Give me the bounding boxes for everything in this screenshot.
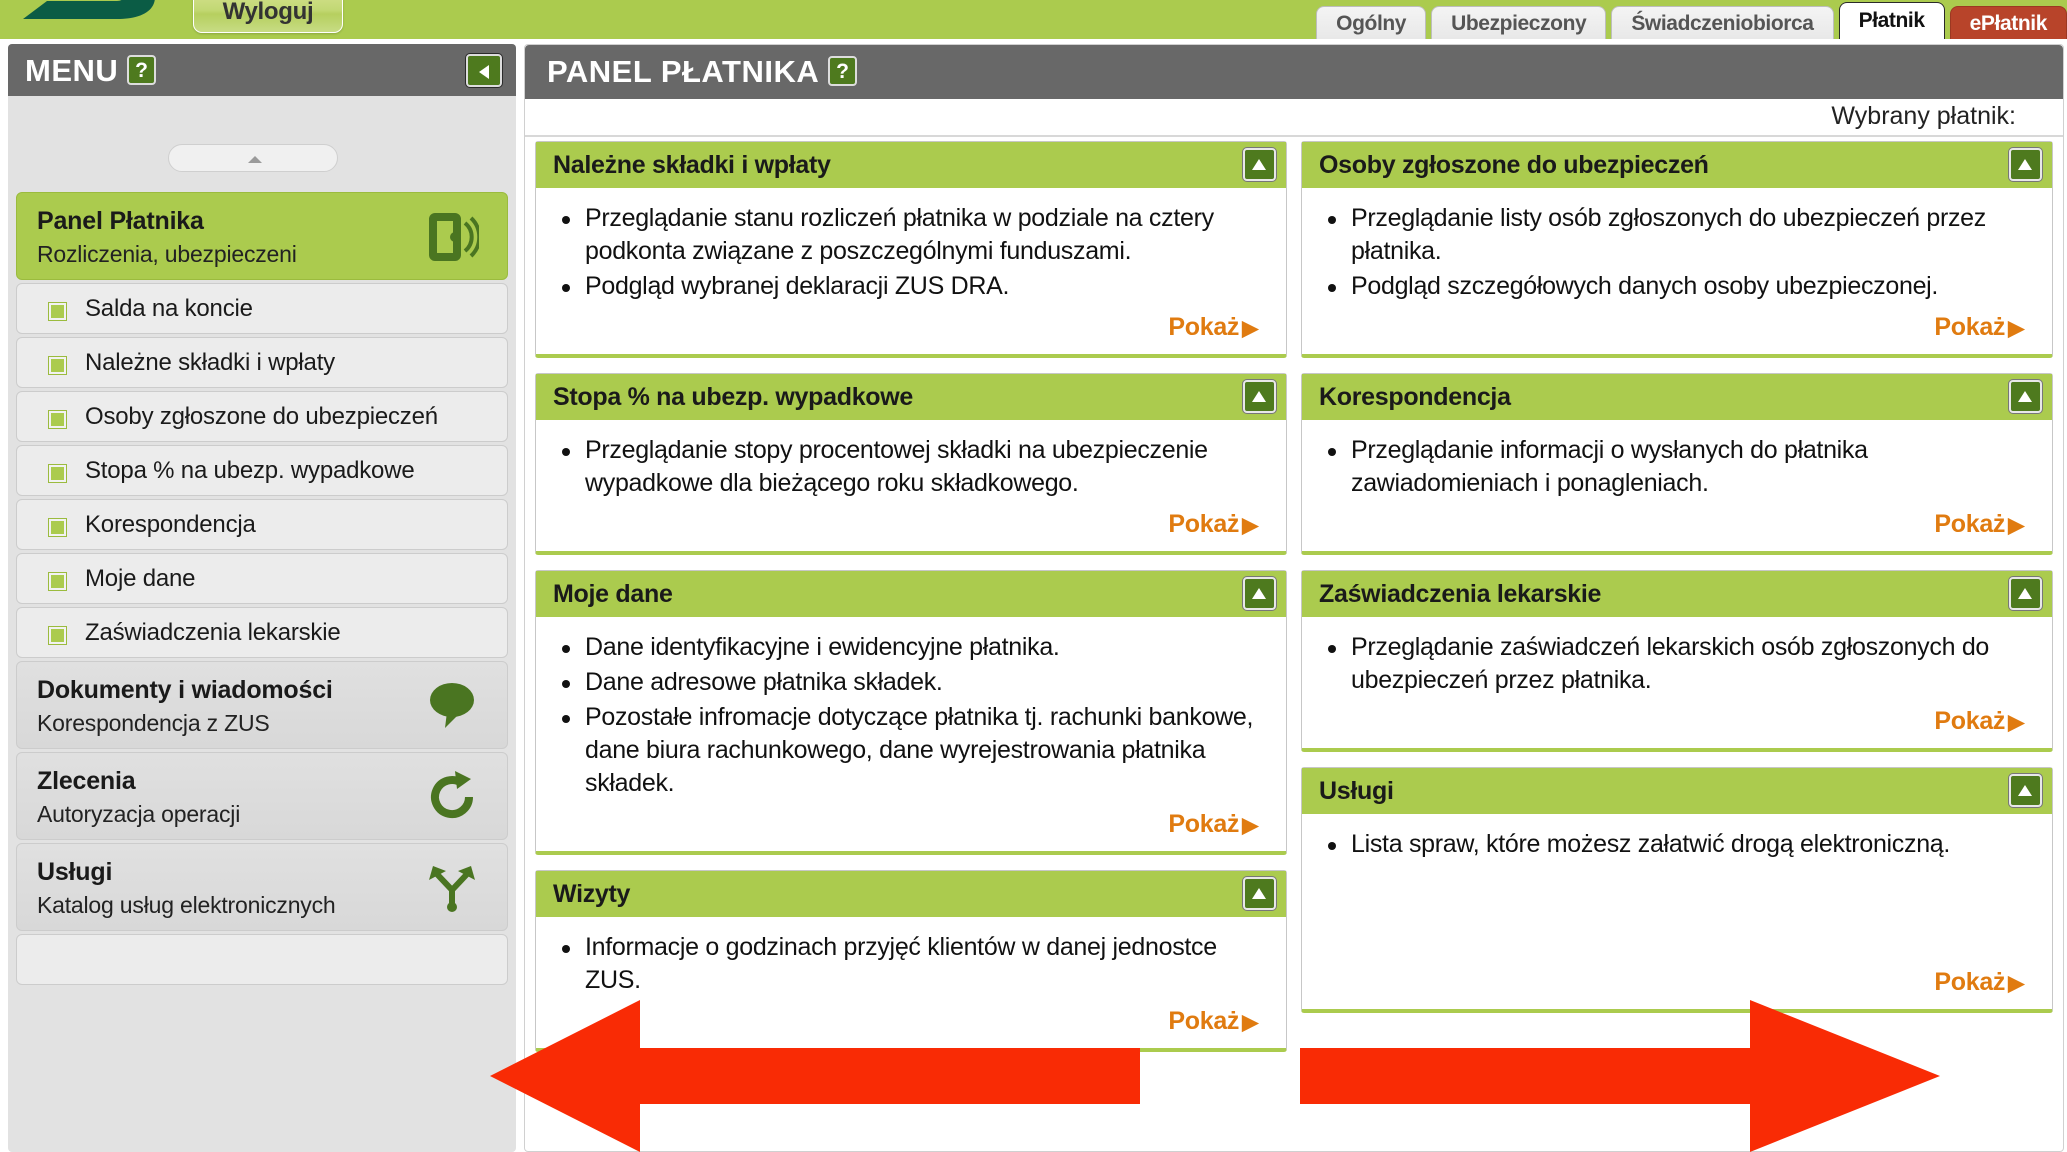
card-bullet: Przeglądanie zaświadczeń lekarskich osób… (1324, 631, 2030, 697)
card-title: Usługi (1319, 777, 1394, 806)
card-footer: Pokaż▶ (1302, 966, 2052, 1009)
sidebar-item-label: Korespondencja (85, 511, 256, 539)
card-body: Przeglądanie informacji o wysłanych do p… (1302, 420, 2052, 508)
sidebar-header: MENU? (8, 44, 516, 96)
card-zaswiadczenia-lekarskie: Zaświadczenia lekarskie Przeglądanie zaś… (1301, 570, 2053, 752)
chevron-up-icon[interactable] (2009, 380, 2042, 413)
sidebar-item-label: Moje dane (85, 565, 195, 593)
chevron-right-icon: ▶ (2008, 711, 2024, 734)
sidebar-item-subtitle: Katalog usług elektronicznych (37, 892, 336, 919)
chevron-up-icon[interactable] (1243, 380, 1276, 413)
chevron-right-icon: ▶ (2008, 317, 2024, 340)
card-bullet: Informacje o godzinach przyjęć klientów … (558, 931, 1264, 997)
sidebar-item-stopa-na-ubezp-wypadkowe[interactable]: Stopa % na ubezp. wypadkowe (16, 445, 508, 496)
top-bar: Wyloguj Ogólny Ubezpieczony Świadczeniob… (0, 0, 2067, 39)
sidebar-item-salda-na-koncie[interactable]: Salda na koncie (16, 283, 508, 334)
card-uslugi: Usługi Lista spraw, które możesz załatwi… (1301, 767, 2053, 1013)
sidebar-item-label: Stopa % na ubezp. wypadkowe (85, 457, 415, 485)
cards-container: Należne składki i wpłaty Przeglądanie st… (525, 141, 2063, 1067)
card-title: Moje dane (553, 580, 673, 609)
cards-column-right: Osoby zgłoszone do ubezpieczeń Przegląda… (1301, 141, 2053, 1067)
card-title: Korespondencja (1319, 383, 1511, 412)
sidebar-item-label: Zaświadczenia lekarskie (85, 619, 341, 647)
sidebar-item-zaswiadczenia-lekarskie[interactable]: Zaświadczenia lekarskie (16, 607, 508, 658)
card-footer: Pokaż▶ (1302, 705, 2052, 748)
show-link[interactable]: Pokaż▶ (1168, 510, 1258, 538)
tab-platnik[interactable]: Płatnik (1839, 2, 1945, 39)
show-link-label: Pokaż (1934, 510, 2005, 538)
show-link-label: Pokaż (1934, 313, 2005, 341)
card-bullet: Dane identyfikacyjne i ewidencyjne płatn… (558, 631, 1264, 664)
card-bullet: Przeglądanie stanu rozliczeń płatnika w … (558, 202, 1264, 268)
chevron-up-icon[interactable] (1243, 148, 1276, 181)
card-body: Lista spraw, które możesz załatwić drogą… (1302, 814, 2052, 966)
card-osoby-zgloszone-do-ubezpieczen: Osoby zgłoszone do ubezpieczeń Przegląda… (1301, 141, 2053, 358)
sidebar-item-label: Salda na koncie (85, 295, 253, 323)
sidebar-menu-list: Panel Płatnika Rozliczenia, ubezpieczeni… (16, 192, 508, 988)
card-bullet: Podgląd szczegółowych danych osoby ubezp… (1324, 270, 2030, 303)
tab-eplatnik[interactable]: ePłatnik (1950, 6, 2067, 39)
sidebar-title-text: MENU (25, 53, 118, 88)
card-header: Wizyty (536, 871, 1286, 917)
card-bullet: Lista spraw, które możesz załatwić drogą… (1324, 828, 2030, 861)
sidebar-item-subtitle: Korespondencja z ZUS (37, 710, 270, 737)
show-link[interactable]: Pokaż▶ (1934, 968, 2024, 996)
show-link-label: Pokaż (1934, 707, 2005, 735)
sidebar-item-label: Należne składki i wpłaty (85, 349, 335, 377)
show-link-label: Pokaż (1168, 1007, 1239, 1035)
chevron-right-icon: ▶ (2008, 514, 2024, 537)
sidebar-item-subtitle: Rozliczenia, ubezpieczeni (37, 241, 297, 268)
chevron-right-icon: ▶ (1242, 514, 1258, 537)
chevron-up-icon[interactable] (2009, 577, 2042, 610)
sidebar-item-dokumenty-i-wiadomosci[interactable]: Dokumenty i wiadomości Korespondencja z … (16, 661, 508, 749)
card-header: Usługi (1302, 768, 2052, 814)
card-body: Dane identyfikacyjne i ewidencyjne płatn… (536, 617, 1286, 808)
bullet-square-icon (49, 303, 66, 320)
card-footer: Pokaż▶ (536, 1005, 1286, 1048)
sidebar-scroll-up-button[interactable] (168, 144, 338, 172)
card-bullet: Dane adresowe płatnika składek. (558, 666, 1264, 699)
refresh-icon (425, 769, 479, 825)
bullet-square-icon (49, 411, 66, 428)
selected-payer-row: Wybrany płatnik: (525, 99, 2063, 137)
card-bullet: Przeglądanie stopy procentowej składki n… (558, 434, 1264, 500)
sidebar-panel: MENU? Panel Płatnika Rozliczenia, ubezpi… (8, 44, 516, 1152)
top-tabs: Ogólny Ubezpieczony Świadczeniobiorca Pł… (1316, 0, 2067, 39)
card-title: Zaświadczenia lekarskie (1319, 580, 1601, 609)
show-link[interactable]: Pokaż▶ (1934, 313, 2024, 341)
chevron-right-icon: ▶ (1242, 1011, 1258, 1034)
sidebar-item-osoby-zgloszone-do-ubezpieczen[interactable]: Osoby zgłoszone do ubezpieczeń (16, 391, 508, 442)
card-header: Stopa % na ubezp. wypadkowe (536, 374, 1286, 420)
sidebar-item-title: Panel Płatnika (37, 207, 204, 236)
tab-swiadczeniobiorca[interactable]: Świadczeniobiorca (1611, 6, 1833, 39)
tab-ubezpieczony[interactable]: Ubezpieczony (1431, 6, 1606, 39)
show-link-label: Pokaż (1168, 313, 1239, 341)
zus-logo (13, 0, 173, 33)
main-panel: PANEL PŁATNIKA? Wybrany płatnik: Należne… (524, 44, 2064, 1152)
show-link-label: Pokaż (1168, 510, 1239, 538)
page-title-text: PANEL PŁATNIKA (547, 54, 819, 89)
bullet-square-icon (49, 519, 66, 536)
card-footer: Pokaż▶ (536, 311, 1286, 354)
sidebar-item-title: Usługi (37, 858, 112, 887)
payer-panel-icon (425, 209, 479, 265)
sidebar-item-subtitle: Autoryzacja operacji (37, 801, 240, 828)
card-body: Przeglądanie zaświadczeń lekarskich osób… (1302, 617, 2052, 705)
main-header: PANEL PŁATNIKA? (525, 45, 2063, 99)
page-title: PANEL PŁATNIKA? (547, 54, 857, 90)
chevron-right-icon: ▶ (1242, 317, 1258, 340)
chevron-right-icon: ▶ (2008, 972, 2024, 995)
show-link[interactable]: Pokaż▶ (1934, 707, 2024, 735)
card-stopa-na-ubezp-wypadkowe: Stopa % na ubezp. wypadkowe Przeglądanie… (535, 373, 1287, 555)
sidebar-item-title: Zlecenia (37, 767, 135, 796)
card-header: Należne składki i wpłaty (536, 142, 1286, 188)
show-link[interactable]: Pokaż▶ (1168, 313, 1258, 341)
chevron-up-icon[interactable] (1243, 877, 1276, 910)
card-header: Osoby zgłoszone do ubezpieczeń (1302, 142, 2052, 188)
card-body: Przeglądanie stopy procentowej składki n… (536, 420, 1286, 508)
tab-ogolny[interactable]: Ogólny (1316, 6, 1426, 39)
card-bullet: Przeglądanie listy osób zgłoszonych do u… (1324, 202, 2030, 268)
logout-button[interactable]: Wyloguj (193, 0, 343, 33)
help-icon[interactable]: ? (828, 56, 857, 86)
sidebar-item-korespondencja[interactable]: Korespondencja (16, 499, 508, 550)
card-title: Osoby zgłoszone do ubezpieczeń (1319, 151, 1709, 180)
sidebar-item-title: Dokumenty i wiadomości (37, 676, 333, 705)
chevron-up-icon[interactable] (2009, 148, 2042, 181)
sidebar-item-nalezne-skladki-i-wplaty[interactable]: Należne składki i wpłaty (16, 337, 508, 388)
sidebar-title: MENU? (25, 53, 156, 89)
selected-payer-label: Wybrany płatnik: (1831, 102, 2016, 131)
services-fork-icon (425, 860, 479, 916)
sidebar-item-uslugi[interactable]: Usługi Katalog usług elektronicznych (16, 843, 508, 931)
bullet-square-icon (49, 357, 66, 374)
card-footer: Pokaż▶ (536, 508, 1286, 551)
bullet-square-icon (49, 573, 66, 590)
bullet-square-icon (49, 627, 66, 644)
chevron-up-icon[interactable] (2009, 774, 2042, 807)
cards-column-left: Należne składki i wpłaty Przeglądanie st… (535, 141, 1287, 1067)
sidebar-item-zlecenia[interactable]: Zlecenia Autoryzacja operacji (16, 752, 508, 840)
sidebar-item-panel-platnika[interactable]: Panel Płatnika Rozliczenia, ubezpieczeni (16, 192, 508, 280)
card-body: Przeglądanie listy osób zgłoszonych do u… (1302, 188, 2052, 311)
card-footer: Pokaż▶ (1302, 508, 2052, 551)
card-nalezne-skladki-i-wplaty: Należne składki i wpłaty Przeglądanie st… (535, 141, 1287, 358)
card-header: Moje dane (536, 571, 1286, 617)
card-header: Korespondencja (1302, 374, 2052, 420)
chevron-up-icon[interactable] (1243, 577, 1276, 610)
speech-bubble-icon (425, 678, 479, 734)
card-bullet: Pozostałe infromacje dotyczące płatnika … (558, 701, 1264, 800)
bullet-square-icon (49, 465, 66, 482)
show-link[interactable]: Pokaż▶ (1934, 510, 2024, 538)
sidebar-collapse-icon[interactable] (466, 54, 502, 87)
card-bullet: Przeglądanie informacji o wysłanych do p… (1324, 434, 2030, 500)
card-bullet: Podgląd wybranej deklaracji ZUS DRA. (558, 270, 1264, 303)
card-header: Zaświadczenia lekarskie (1302, 571, 2052, 617)
card-body: Przeglądanie stanu rozliczeń płatnika w … (536, 188, 1286, 311)
sidebar-item-label: Osoby zgłoszone do ubezpieczeń (85, 403, 438, 431)
card-title: Należne składki i wpłaty (553, 151, 831, 180)
help-icon[interactable]: ? (127, 55, 156, 85)
chevron-right-icon: ▶ (1242, 814, 1258, 837)
show-link[interactable]: Pokaż▶ (1168, 810, 1258, 838)
card-moje-dane: Moje dane Dane identyfikacyjne i ewidenc… (535, 570, 1287, 855)
sidebar-item-moje-dane[interactable]: Moje dane (16, 553, 508, 604)
card-body: Informacje o godzinach przyjęć klientów … (536, 917, 1286, 1005)
card-footer: Pokaż▶ (536, 808, 1286, 851)
show-link-label: Pokaż (1168, 810, 1239, 838)
card-korespondencja: Korespondencja Przeglądanie informacji o… (1301, 373, 2053, 555)
show-link[interactable]: Pokaż▶ (1168, 1007, 1258, 1035)
sidebar-item-extra[interactable] (16, 934, 508, 985)
card-wizyty: Wizyty Informacje o godzinach przyjęć kl… (535, 870, 1287, 1052)
card-footer: Pokaż▶ (1302, 311, 2052, 354)
show-link-label: Pokaż (1934, 968, 2005, 996)
card-title: Stopa % na ubezp. wypadkowe (553, 383, 913, 412)
card-title: Wizyty (553, 880, 630, 909)
